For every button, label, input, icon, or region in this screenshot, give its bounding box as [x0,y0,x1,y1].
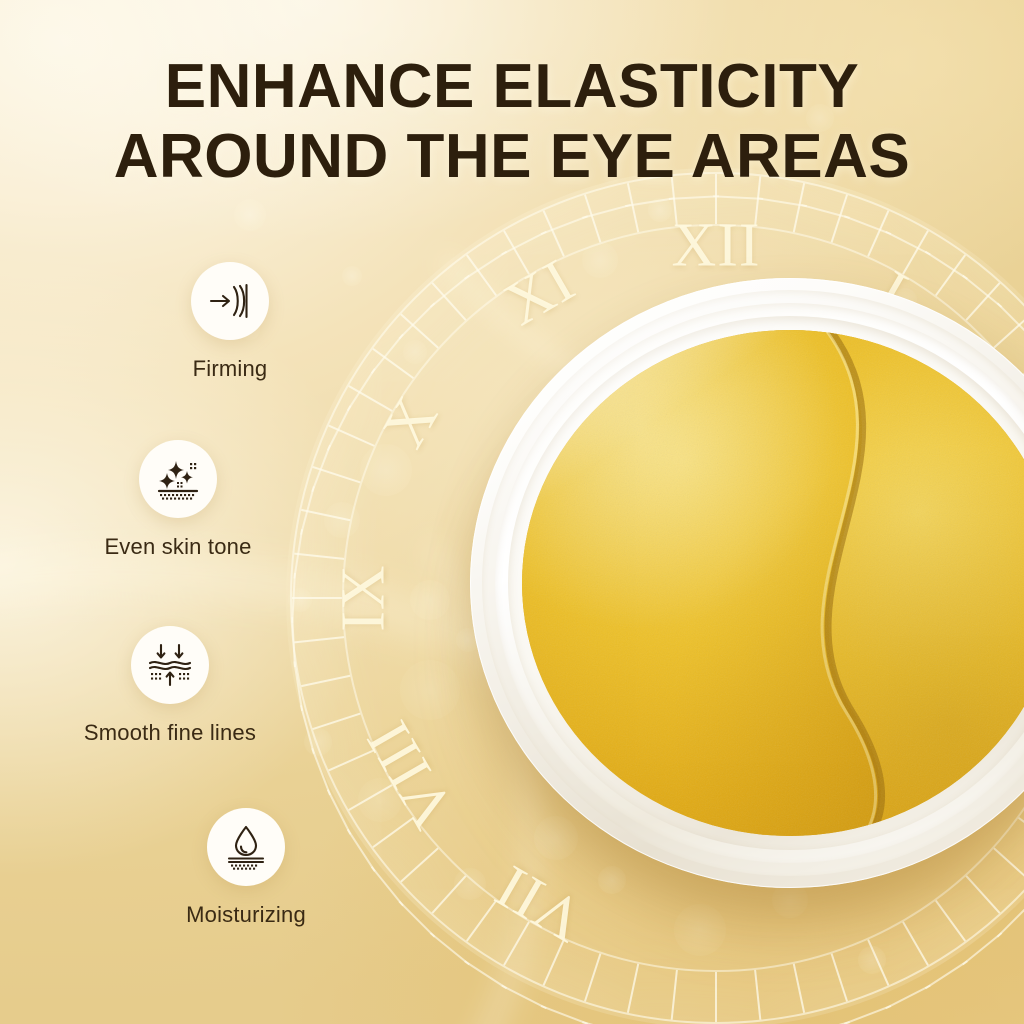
clock-tick-rung [925,960,968,989]
feature-label: Smooth fine lines [62,720,278,746]
clock-tick-rung [962,932,1002,965]
clock-tick [935,900,966,942]
clock-tick [671,970,678,1020]
feature-item-smooth-fine-lines[interactable]: Smooth fine lines [62,626,278,746]
clock-tick [294,553,344,560]
feature-item-even-skin-tone[interactable]: Even skin tone [78,440,278,560]
jar-outer-rim [470,278,1024,888]
feature-item-moisturizing[interactable]: Moisturizing [146,808,346,928]
feature-icon-bubble [191,262,269,340]
clock-tick [793,964,805,1013]
feature-label: Firming [148,356,312,382]
clock-tick [400,848,438,883]
promo-poster: IXIIXIXIXVIIIVII [0,0,1024,1024]
clock-tick-rung [501,985,546,1009]
feature-icon-bubble [131,626,209,704]
clock-tick [867,939,889,985]
water-drop-skin-icon [223,824,269,870]
clock-tick [312,713,360,730]
clock-tick [584,953,601,1001]
jar-interior [522,330,1024,836]
clock-tick [715,972,717,1022]
clock-tick [584,194,601,242]
clock-tick-rung [464,960,507,989]
clock-tick [831,953,848,1001]
clock-tick-rung [327,405,351,450]
feature-item-firming[interactable]: Firming [148,262,312,382]
clock-tick [902,921,929,965]
gold-eye-mask-jar [470,278,1024,888]
clock-tick-rung [311,748,331,795]
clock-tick-rung [430,932,470,965]
clock-tick-rung [399,901,436,938]
clock-tick [754,970,761,1020]
clock-tick-rung [347,368,376,411]
clock-tick [831,194,848,242]
clock-numeral-xii: XII [671,211,760,282]
sparkles-skin-icon [154,457,202,501]
feature-label: Moisturizing [146,902,346,928]
clock-tick-rung [371,866,404,906]
clock-tick-rung [885,985,930,1009]
clock-tick [432,875,467,913]
clock-tick [301,675,350,687]
page-title: ENHANCE ELASTICITY AROUND THE EYE AREAS [0,52,1024,192]
headline-line-1: ENHANCE ELASTICITY [165,52,859,121]
feature-icon-bubble [207,808,285,886]
clock-tick-rung [399,303,436,340]
feature-icon-bubble [139,440,217,518]
clock-tick [294,636,344,643]
headline-line-2: AROUND THE EYE AREAS [0,122,1024,192]
clock-tick-rung [669,195,719,200]
wrinkle-arrows-icon [145,642,195,688]
clock-numeral-ix: IX [329,564,400,631]
clock-tick [301,509,350,521]
firming-arrow-lines-icon [207,281,253,321]
clock-tick-rung [844,1005,891,1024]
clock-tick [627,964,639,1013]
clock-tick-rung [713,195,763,200]
feature-label: Even skin tone [78,534,278,560]
clock-tick-rung [541,1005,588,1024]
clock-tick-rung [347,829,376,872]
